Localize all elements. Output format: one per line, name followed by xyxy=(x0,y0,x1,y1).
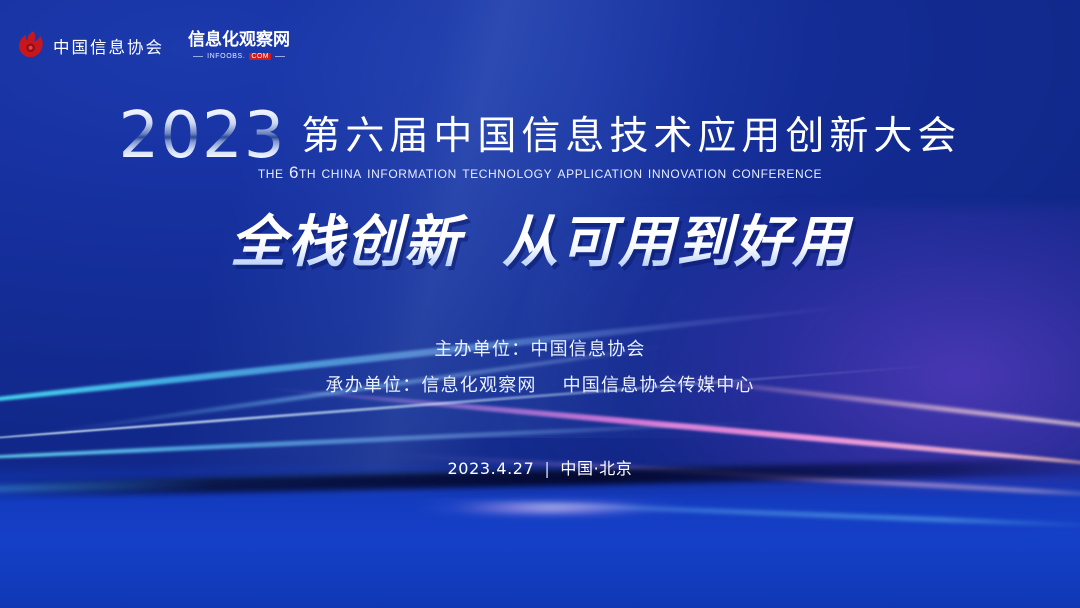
event-footer: 2023.4.27|中国·北京 xyxy=(0,455,1080,479)
conference-title-en: The 6th China Information Technology App… xyxy=(0,163,1080,183)
conference-poster: 中国信息协会 信息化观察网 INFOOBS. COM 2023 第六届中国信息技… xyxy=(0,0,1080,608)
media-logo-rule-left xyxy=(193,56,203,57)
host-value: 中国信息协会 xyxy=(530,339,645,360)
media-logo-domain-badge: COM xyxy=(249,53,271,60)
conference-title-cn: 第六届中国信息技术应用创新大会 xyxy=(301,117,961,156)
logo-bar: 中国信息协会 信息化观察网 INFOOBS. COM xyxy=(18,30,290,62)
footer-separator: | xyxy=(544,459,550,478)
association-logo: 中国信息协会 xyxy=(18,30,164,62)
co-host-line: 承办单位：信息化观察网中国信息协会传媒中心 xyxy=(0,368,1080,404)
association-logo-text: 中国信息协会 xyxy=(53,34,164,58)
title-row: 2023 第六届中国信息技术应用创新大会 xyxy=(0,104,1080,168)
host-label: 主办单位： xyxy=(434,339,530,360)
organizer-block: 主办单位：中国信息协会 承办单位：信息化观察网中国信息协会传媒中心 xyxy=(0,332,1080,404)
event-location: 中国·北京 xyxy=(560,459,632,478)
co-host-value-1: 信息化观察网 xyxy=(421,375,536,396)
host-line: 主办单位：中国信息协会 xyxy=(0,332,1080,368)
background-base xyxy=(0,0,1080,608)
media-logo-text-cn: 信息化观察网 xyxy=(188,32,290,49)
conference-title-en-text: The 6th China Information Technology App… xyxy=(258,163,822,182)
media-logo: 信息化观察网 INFOOBS. COM xyxy=(188,32,290,60)
event-date: 2023.4.27 xyxy=(448,459,535,478)
co-host-label: 承办单位： xyxy=(325,375,421,396)
flame-icon xyxy=(18,30,44,62)
year-numeral: 2023 xyxy=(119,104,286,168)
slogan-part-1: 全栈创新 xyxy=(230,210,462,275)
co-host-value-2: 中国信息协会传媒中心 xyxy=(563,375,755,396)
media-logo-text-en: INFOOBS. xyxy=(207,53,245,60)
media-logo-en-row: INFOOBS. COM xyxy=(193,53,285,60)
media-logo-rule-right xyxy=(275,56,285,57)
slogan-part-2: 从可用到好用 xyxy=(502,210,850,275)
conference-slogan: 全栈创新从可用到好用 xyxy=(0,212,1080,275)
